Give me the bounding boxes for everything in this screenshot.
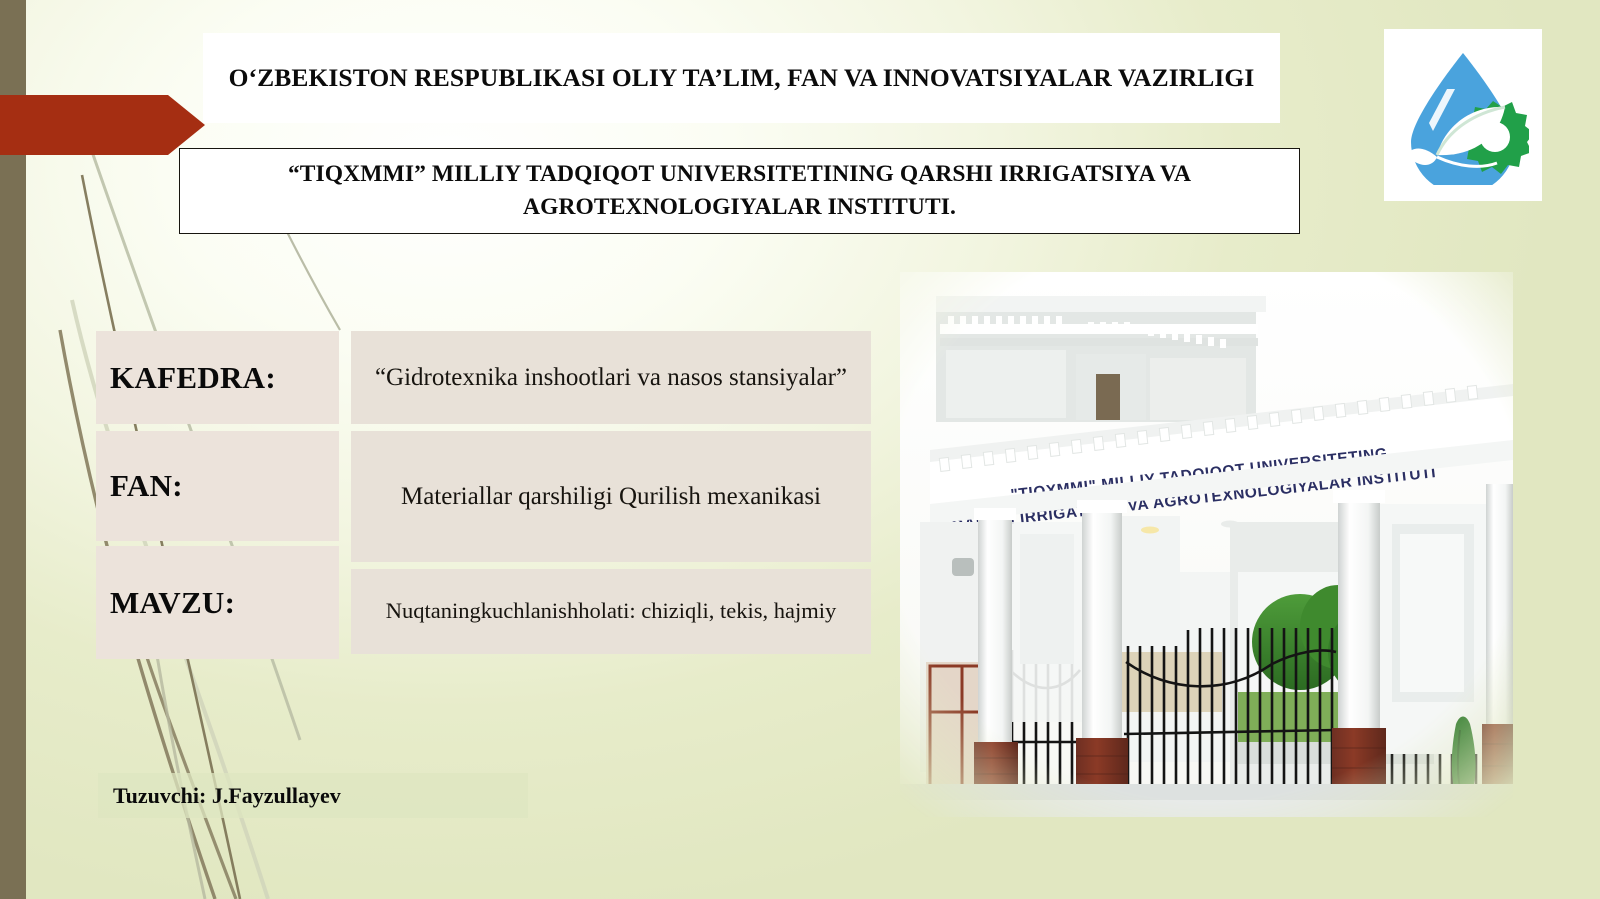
row-label-fan-text: FAN: <box>110 468 183 504</box>
building-illustration: "TIQXMMI" MILLIY TADQIQOT UNIVERSITETING… <box>900 272 1513 817</box>
row-value-kafedra: “Gidrotexnika inshootlari va nasos stans… <box>351 331 871 424</box>
ministry-title-text: O‘ZBEKISTON RESPUBLIKASI OLIY TA’LIM, FA… <box>229 61 1255 95</box>
red-arrow-shape <box>0 95 205 155</box>
institute-title-text: “TIQXMMI” MILLIY TADQIQOT UNIVERSITETINI… <box>194 158 1285 225</box>
author-text: Tuzuvchi: J.Fayzullayev <box>113 783 341 809</box>
slide-canvas: O‘ZBEKISTON RESPUBLIKASI OLIY TA’LIM, FA… <box>0 0 1600 899</box>
institute-entrance-photo: "TIQXMMI" MILLIY TADQIQOT UNIVERSITETING… <box>900 272 1513 817</box>
row-label-kafedra-text: KAFEDRA: <box>110 360 276 396</box>
row-value-mavzu: Nuqtaningkuchlanishholati: chiziqli, tek… <box>351 569 871 654</box>
row-label-mavzu-text: MAVZU: <box>110 585 235 621</box>
row-value-mavzu-text: Nuqtaningkuchlanishholati: chiziqli, tek… <box>386 596 837 626</box>
row-label-mavzu: MAVZU: <box>96 546 339 659</box>
row-label-fan: FAN: <box>96 431 339 541</box>
row-label-kafedra: KAFEDRA: <box>96 331 339 424</box>
row-value-fan-text: Materiallar qarshiligi Qurilish mexanika… <box>401 480 821 514</box>
water-drop-leaf-gear-icon <box>1397 45 1529 185</box>
institute-logo <box>1384 29 1542 201</box>
institute-title-box: “TIQXMMI” MILLIY TADQIQOT UNIVERSITETINI… <box>179 148 1300 234</box>
author-banner: Tuzuvchi: J.Fayzullayev <box>98 773 528 818</box>
row-value-fan: Materiallar qarshiligi Qurilish mexanika… <box>351 431 871 562</box>
ministry-title-box: O‘ZBEKISTON RESPUBLIKASI OLIY TA’LIM, FA… <box>203 33 1280 123</box>
row-value-kafedra-text: “Gidrotexnika inshootlari va nasos stans… <box>375 361 847 395</box>
